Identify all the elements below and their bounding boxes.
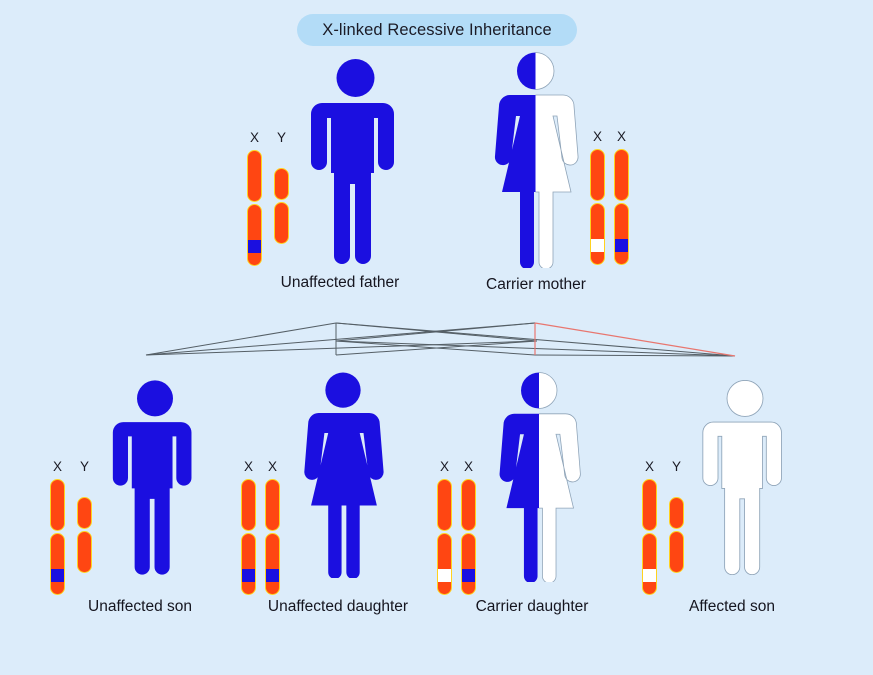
karyotype-unaffected-daughter: X X xyxy=(241,460,280,595)
chromosome-arm-short xyxy=(241,479,256,531)
chromosome-x-normal: X xyxy=(461,460,476,595)
chromosome-arm-long xyxy=(274,202,289,244)
chromosome-arm-long xyxy=(265,533,280,595)
chromosome-label: X xyxy=(617,130,626,144)
caption-unaffected-daughter: Unaffected daughter xyxy=(268,598,408,616)
chromosome-y: Y xyxy=(77,460,92,573)
caption-carrier-daughter: Carrier daughter xyxy=(476,598,589,616)
figure-unaffected-father xyxy=(308,58,403,266)
gene-band-normal xyxy=(241,569,256,582)
karyotype-unaffected-son: X Y xyxy=(50,460,92,595)
chromosome-label: X xyxy=(250,131,259,145)
lineage-mother-cross-b xyxy=(336,323,535,341)
page-title: X-linked Recessive Inheritance xyxy=(322,21,552,40)
chromosome-arm-long xyxy=(247,204,262,266)
gene-band-normal xyxy=(614,239,629,252)
diagram-canvas: X-linked Recessive Inheritance xyxy=(0,0,873,675)
person-unaffected-father[interactable]: X Y xyxy=(240,58,440,298)
chromosome-label: Y xyxy=(277,131,286,145)
lineage-baseline-left xyxy=(146,341,537,355)
lineage-mother-to-son1 xyxy=(146,323,535,355)
lineage-father-to-son4 xyxy=(336,323,735,356)
figure-carrier-mother xyxy=(488,52,583,268)
figure-unaffected-daughter xyxy=(293,372,393,578)
chromosome-arm-short xyxy=(461,479,476,531)
chromosome-arm-long xyxy=(590,203,605,265)
figure-carrier-daughter xyxy=(489,372,589,582)
chromosome-x-mutant: X xyxy=(437,460,452,595)
chromosome-x-mutant: X xyxy=(590,130,605,265)
person-unaffected-son[interactable]: X Y xyxy=(44,374,244,624)
lineage-father-cross-a xyxy=(336,341,537,355)
karyotype-unaffected-father: X Y xyxy=(247,131,289,266)
gene-band-normal xyxy=(265,569,280,582)
karyotype-carrier-mother: X X xyxy=(590,130,629,265)
chromosome-label: X xyxy=(268,460,277,474)
caption-unaffected-son: Unaffected son xyxy=(88,598,192,616)
caption-affected-son: Affected son xyxy=(689,598,775,616)
chromosome-x: X xyxy=(247,131,262,266)
chromosome-arm-long xyxy=(77,531,92,573)
chromosome-x-2: X xyxy=(265,460,280,595)
gene-band-mutant xyxy=(437,569,452,582)
chromosome-arm-long xyxy=(461,533,476,595)
chromosome-label: X xyxy=(53,460,62,474)
karyotype-carrier-daughter: X X xyxy=(437,460,476,595)
chromosome-arm-short xyxy=(437,479,452,531)
chromosome-arm-short xyxy=(265,479,280,531)
chromosome-arm-long xyxy=(241,533,256,595)
caption-carrier-mother: Carrier mother xyxy=(486,276,586,294)
gene-band-normal xyxy=(50,569,65,582)
chromosome-arm-short xyxy=(614,149,629,201)
gene-band-mutant xyxy=(590,239,605,252)
diagram-title-badge: X-linked Recessive Inheritance xyxy=(297,14,577,46)
chromosome-label: X xyxy=(645,460,654,474)
chromosome-arm-long xyxy=(437,533,452,595)
person-carrier-daughter[interactable]: X X xyxy=(434,372,644,624)
chromosome-x-mutant: X xyxy=(642,460,657,595)
chromosome-label: X xyxy=(244,460,253,474)
chromosome-label: X xyxy=(440,460,449,474)
chromosome-arm-short xyxy=(77,497,92,529)
lineage-mother-cross-a xyxy=(336,341,535,355)
caption-unaffected-father: Unaffected father xyxy=(281,274,400,292)
gene-band-normal xyxy=(461,569,476,582)
lineage-father-cross-b xyxy=(336,323,537,341)
chromosome-label: Y xyxy=(672,460,681,474)
chromosome-arm-short xyxy=(274,168,289,200)
figure-affected-son xyxy=(700,378,790,578)
chromosome-arm-long xyxy=(50,533,65,595)
chromosome-arm-short xyxy=(590,149,605,201)
chromosome-arm-long xyxy=(614,203,629,265)
lineage-baseline-right xyxy=(336,341,735,356)
figure-unaffected-son xyxy=(110,378,200,578)
chromosome-label: Y xyxy=(80,460,89,474)
chromosome-y: Y xyxy=(669,460,684,573)
lineage-mother-to-son4-b xyxy=(535,355,735,356)
chromosome-arm-short xyxy=(642,479,657,531)
lineage-father-to-son1 xyxy=(146,323,336,355)
chromosome-arm-short xyxy=(247,150,262,202)
karyotype-affected-son: X Y xyxy=(642,460,684,595)
gene-band-mutant xyxy=(642,569,657,582)
person-unaffected-daughter[interactable]: X X xyxy=(238,372,448,624)
chromosome-arm-long xyxy=(669,531,684,573)
chromosome-arm-short xyxy=(669,497,684,529)
chromosome-label: X xyxy=(464,460,473,474)
person-affected-son[interactable]: X Y xyxy=(638,374,838,624)
chromosome-x: X xyxy=(50,460,65,595)
chromosome-x-1: X xyxy=(241,460,256,595)
lineage-affected-transmission xyxy=(535,323,735,356)
chromosome-y: Y xyxy=(274,131,289,244)
chromosome-arm-short xyxy=(50,479,65,531)
chromosome-label: X xyxy=(593,130,602,144)
gene-band-normal xyxy=(247,240,262,253)
person-carrier-mother[interactable]: X X Carrier mother xyxy=(468,52,668,300)
chromosome-arm-long xyxy=(642,533,657,595)
chromosome-x-normal: X xyxy=(614,130,629,265)
